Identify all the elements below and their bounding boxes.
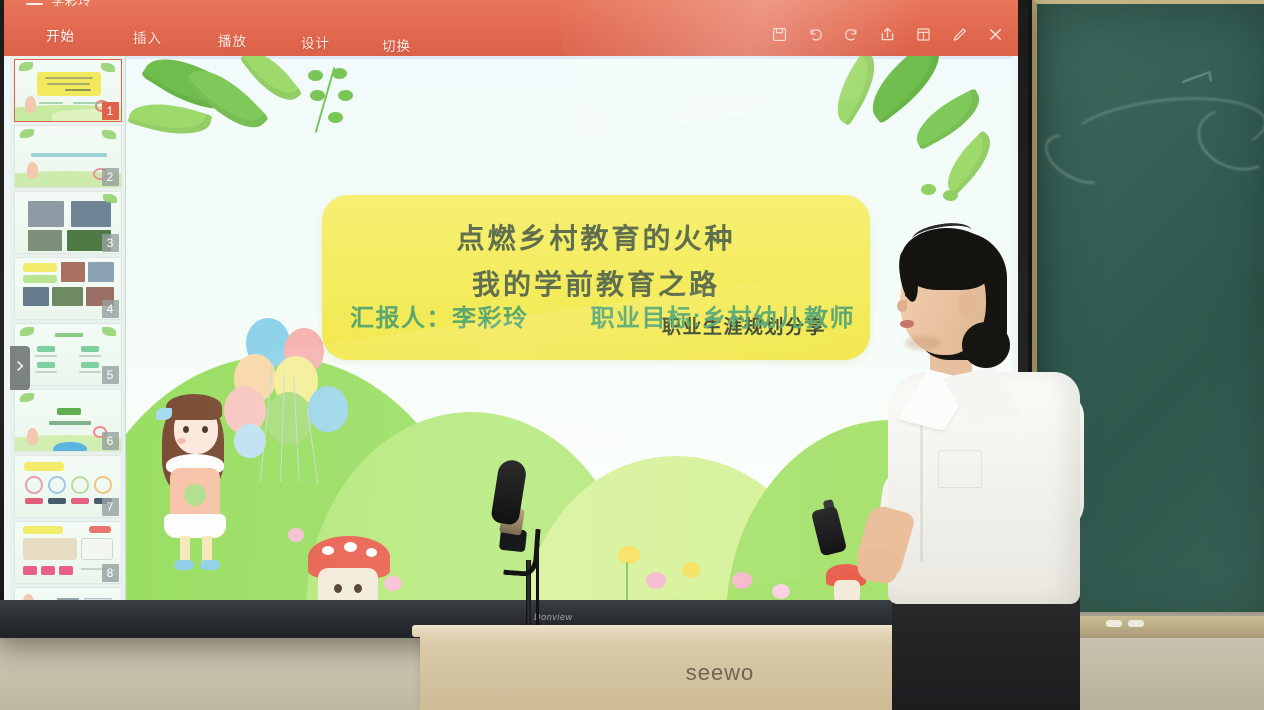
- sprig-leaf: [921, 184, 936, 195]
- presenter-chin-shadow: [905, 336, 941, 350]
- title-plate[interactable]: 点燃乡村教育的火种 我的学前教育之路 职业生涯规划分享: [322, 195, 870, 360]
- title-row: 李彩玲: [4, 0, 1018, 10]
- girl-blush: [177, 438, 186, 444]
- girl-bangs: [166, 394, 222, 420]
- girl-hair-bow: [156, 408, 172, 420]
- flower: [682, 562, 700, 578]
- save-icon[interactable]: [771, 26, 788, 43]
- slide-thumbnail[interactable]: 1: [14, 59, 122, 122]
- sprig-leaf: [338, 90, 353, 101]
- slide-meta-row: 汇报人：李彩玲 职业目标:乡村幼儿教师: [350, 298, 950, 333]
- mushroom-dot: [366, 548, 377, 557]
- mushroom-body: [834, 580, 860, 600]
- slide-number: 4: [102, 300, 119, 318]
- rail-expand-button[interactable]: [10, 346, 30, 390]
- ribbon-tabs: 开始 插入 播放 设计 切换: [4, 18, 624, 52]
- girl-leg: [180, 536, 190, 562]
- sprig-leaf: [308, 70, 323, 81]
- slide-title-line2: 我的学前教育之路: [322, 263, 870, 303]
- flower-stem: [626, 562, 628, 600]
- presenter-label: 汇报人：李彩玲: [350, 298, 529, 333]
- sprig-leaf: [332, 68, 347, 79]
- presenter-ear: [958, 292, 976, 316]
- chevron-right-icon: [14, 359, 26, 377]
- app-toolbar: [771, 20, 1004, 48]
- layout-icon[interactable]: [915, 26, 932, 43]
- girl-skirt: [164, 514, 226, 538]
- flower: [288, 528, 304, 542]
- presenter-nose: [897, 300, 907, 312]
- slide-number: 1: [102, 102, 119, 120]
- presenter-mouth: [900, 320, 914, 328]
- mushroom-dot: [344, 542, 357, 552]
- balloon: [308, 386, 348, 432]
- pen-icon[interactable]: [951, 26, 968, 43]
- slide-thumbnail[interactable]: 2: [14, 125, 122, 188]
- girl-leg: [202, 536, 212, 562]
- close-icon[interactable]: [987, 26, 1004, 43]
- slide-thumbnail[interactable]: 3: [14, 191, 122, 254]
- sprig-leaf: [310, 90, 325, 101]
- girl-flower-motif: [184, 484, 206, 506]
- mushroom-body: [318, 568, 378, 600]
- girl-eye: [183, 426, 189, 433]
- presenter-hair-bun: [962, 322, 1010, 368]
- ribbon-tab-transition[interactable]: 切换: [378, 33, 415, 57]
- slide-number: 8: [102, 564, 119, 582]
- ribbon-tab-insert[interactable]: 插入: [129, 25, 166, 49]
- mushroom-dot: [322, 546, 334, 555]
- flower: [732, 572, 752, 589]
- chalk-stick: [1128, 620, 1144, 627]
- slide-number: 2: [102, 168, 119, 186]
- presenter-button-placket: [920, 412, 923, 562]
- slide-thumbnail[interactable]: 8: [14, 521, 122, 584]
- mushroom-eye: [334, 584, 342, 593]
- balloon: [234, 424, 266, 458]
- undo-icon[interactable]: [807, 26, 824, 43]
- document-title: 李彩玲: [51, 0, 92, 9]
- classroom-scene: 李彩玲 开始 插入 播放 设计 切换: [0, 0, 1264, 710]
- slide-thumbnail[interactable]: 7: [14, 455, 122, 518]
- redo-icon[interactable]: [843, 26, 860, 43]
- sprig-leaf: [943, 190, 958, 201]
- flower: [646, 572, 666, 589]
- mushroom-eye: [354, 584, 362, 593]
- chalk-mark: [1182, 71, 1212, 91]
- ribbon-tab-play[interactable]: 播放: [214, 28, 251, 52]
- share-icon[interactable]: [879, 26, 896, 43]
- balloon: [266, 392, 312, 444]
- ribbon-tab-design[interactable]: 设计: [297, 30, 334, 54]
- slide-title-line1: 点燃乡村教育的火种: [322, 217, 870, 257]
- girl-eye: [202, 426, 208, 433]
- flower: [772, 584, 790, 599]
- slide-thumbnail[interactable]: 4: [14, 257, 122, 320]
- flower: [384, 576, 402, 591]
- leaf-decoration: [937, 130, 1002, 196]
- slide-number: 3: [102, 234, 119, 252]
- slide-thumbnail[interactable]: 6: [14, 389, 122, 452]
- girl-shoe: [200, 560, 220, 570]
- hamburger-icon[interactable]: [26, 0, 43, 5]
- ribbon-tab-start[interactable]: 开始: [42, 23, 79, 47]
- sprig-leaf: [328, 112, 343, 123]
- presenter-shirt-pocket: [938, 450, 982, 488]
- career-goal-label: 职业目标:乡村幼儿教师: [591, 298, 856, 333]
- app-title-bar: 李彩玲 开始 插入 播放 设计 切换: [4, 0, 1018, 56]
- flower: [618, 546, 640, 564]
- presenter-skirt: [892, 586, 1080, 710]
- slide-number: 6: [102, 432, 119, 450]
- slide-thumbnail-rail[interactable]: 1 2 3: [10, 56, 126, 600]
- slide-thumbnail[interactable]: 9: [14, 587, 122, 600]
- slide-number: 5: [102, 366, 119, 384]
- chalk-stick: [1106, 620, 1122, 627]
- slide-number: 7: [102, 498, 119, 516]
- girl-shoe: [174, 560, 194, 570]
